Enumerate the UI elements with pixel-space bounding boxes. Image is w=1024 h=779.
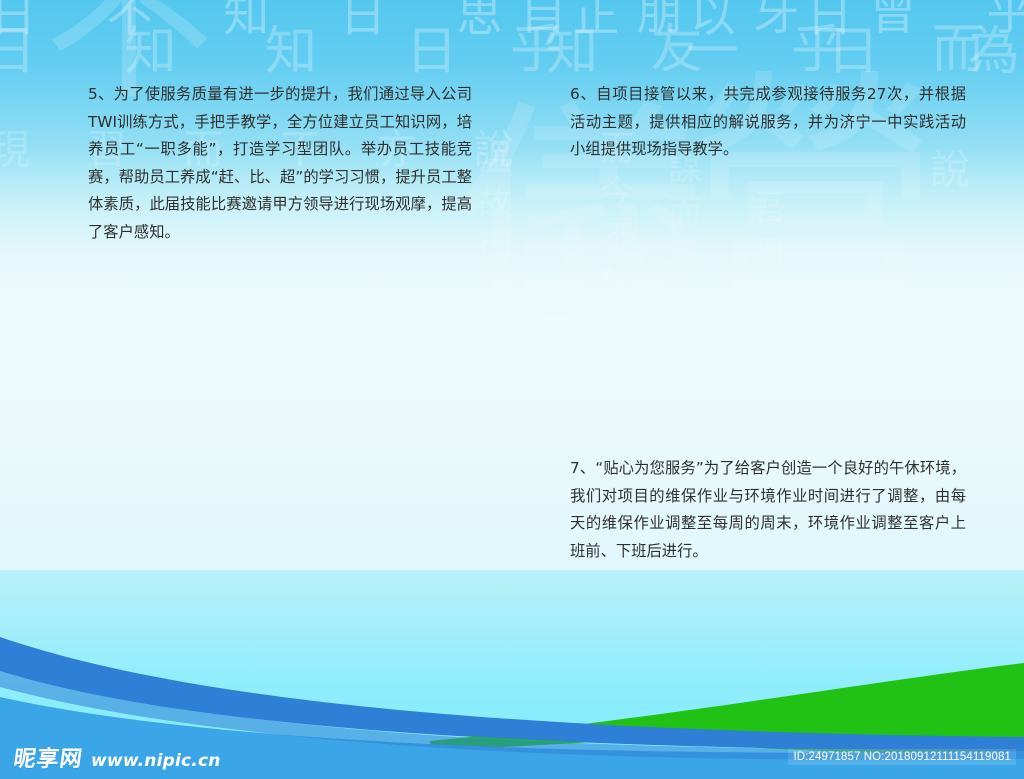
content-area: 5、为了使服务质量有进一步的提升，我们通过导入公司TWI训练方式，手把手教学，全… — [0, 0, 1024, 779]
paragraph-item-7: 7、“贴心为您服务”为了给客户创造一个良好的午休环境，我们对项目的维保作业与环境… — [570, 455, 966, 565]
paragraph-item-6: 6、自项目接管以来，共完成参观接待服务27次，并根据活动主题，提供相应的解说服务… — [570, 81, 966, 164]
paragraph-item-5: 5、为了使服务质量有进一步的提升，我们通过导入公司TWI训练方式，手把手教学，全… — [88, 81, 472, 246]
paragraph-7-text: 7、“贴心为您服务”为了给客户创造一个良好的午休环境，我们对项目的维保作业与环境… — [570, 459, 966, 560]
paragraph-6-text: 6、自项目接管以来，共完成参观接待服务27次，并根据活动主题，提供相应的解说服务… — [570, 85, 966, 158]
paragraph-5-text: 5、为了使服务质量有进一步的提升，我们通过导入公司TWI训练方式，手把手教学，全… — [88, 85, 472, 241]
poster-canvas: 日 不 知 日 思 正 以 日 自 朋 牙 曾 乎 知 方 日 知 知 日 知 … — [0, 0, 1024, 779]
